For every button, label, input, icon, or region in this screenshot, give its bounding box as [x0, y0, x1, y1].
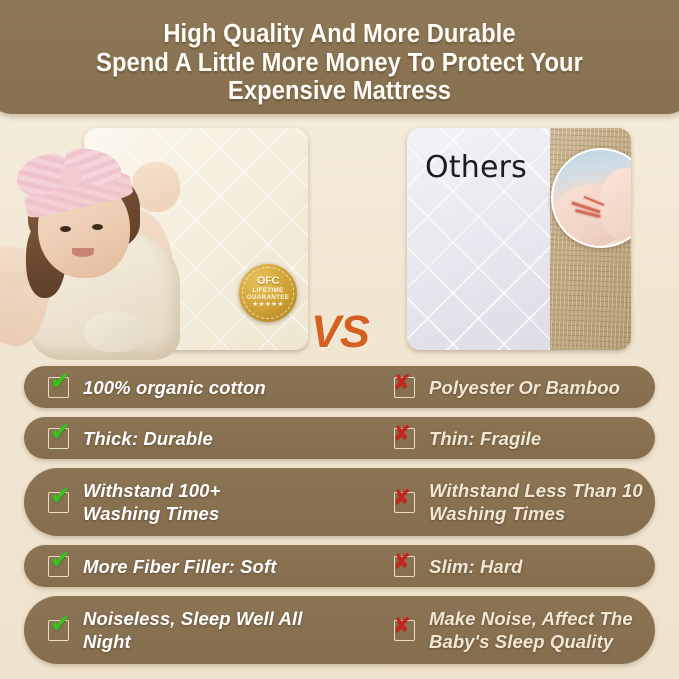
- row-good-text: 100% organic cotton: [83, 377, 266, 398]
- row-bad-text: Polyester Or Bamboo: [429, 377, 620, 398]
- table-row: ✔ Noiseless, Sleep Well All Night ✘ Make…: [24, 596, 655, 664]
- cross-icon: ✘: [394, 428, 415, 449]
- row-good-text: Withstand 100+ Washing Times: [83, 479, 220, 525]
- row-good-text: Noiseless, Sleep Well All Night: [83, 607, 302, 653]
- feature-comparison-list: ✔ 100% organic cotton ✘ Polyester Or Bam…: [0, 366, 679, 673]
- row-bad-text: Withstand Less Than 10 Washing Times: [429, 479, 643, 525]
- table-row: ✔ Thick: Durable ✘ Thin: Fragile: [24, 417, 655, 459]
- table-row: ✔ 100% organic cotton ✘ Polyester Or Bam…: [24, 366, 655, 408]
- comparison-stage: OFC LIFETIME GUARANTEE ★★★★★ VS Others: [0, 120, 679, 365]
- row-bad-cell: ✘ Thin: Fragile: [372, 417, 655, 459]
- others-label: Others: [425, 150, 527, 185]
- row-bad-text: Slim: Hard: [429, 556, 523, 577]
- lifetime-guarantee-badge: OFC LIFETIME GUARANTEE ★★★★★: [239, 264, 297, 322]
- row-good-cell: ✔ Thick: Durable: [24, 417, 372, 459]
- check-icon: ✔: [48, 377, 69, 398]
- check-icon: ✔: [48, 556, 69, 577]
- row-good-cell: ✔ Noiseless, Sleep Well All Night: [24, 596, 372, 664]
- row-bad-cell: ✘ Slim: Hard: [372, 545, 655, 587]
- dress-bow: [84, 312, 146, 352]
- row-bad-cell: ✘ Polyester Or Bamboo: [372, 366, 655, 408]
- cross-icon: ✘: [394, 377, 415, 398]
- table-row: ✔ More Fiber Filler: Soft ✘ Slim: Hard: [24, 545, 655, 587]
- row-good-cell: ✔ 100% organic cotton: [24, 366, 372, 408]
- headband-bow-knot: [60, 166, 82, 188]
- row-bad-cell: ✘ Make Noise, Affect The Baby's Sleep Qu…: [372, 596, 655, 664]
- eye-right-icon: [92, 224, 103, 230]
- cross-icon: ✘: [394, 620, 415, 641]
- header-line-3: Expensive Mattress: [11, 77, 669, 106]
- infographic-page: High Quality And More Durable Spend A Li…: [0, 0, 679, 679]
- row-good-text: Thick: Durable: [83, 428, 213, 449]
- row-good-cell: ✔ Withstand 100+ Washing Times: [24, 468, 372, 536]
- row-good-cell: ✔ More Fiber Filler: Soft: [24, 545, 372, 587]
- eye-left-icon: [60, 226, 71, 232]
- mouth-icon: [72, 248, 94, 257]
- check-icon: ✔: [48, 620, 69, 641]
- cross-icon: ✘: [394, 492, 415, 513]
- check-icon: ✔: [48, 492, 69, 513]
- row-bad-cell: ✘ Withstand Less Than 10 Washing Times: [372, 468, 655, 536]
- header-line-2: Spend A Little More Money To Protect You…: [11, 49, 669, 78]
- header-line-1: High Quality And More Durable: [11, 20, 669, 49]
- others-product-card: Others: [407, 128, 631, 350]
- check-icon: ✔: [48, 428, 69, 449]
- header-banner: High Quality And More Durable Spend A Li…: [0, 0, 679, 114]
- row-good-text: More Fiber Filler: Soft: [83, 556, 276, 577]
- header-text-block: High Quality And More Durable Spend A Li…: [11, 20, 669, 106]
- row-bad-text: Make Noise, Affect The Baby's Sleep Qual…: [429, 607, 633, 653]
- row-bad-text: Thin: Fragile: [429, 428, 541, 449]
- toddler-photo: [0, 134, 210, 356]
- vs-label: VS: [304, 306, 376, 358]
- table-row: ✔ Withstand 100+ Washing Times ✘ Withsta…: [24, 468, 655, 536]
- badge-ring: [242, 267, 294, 319]
- cross-icon: ✘: [394, 556, 415, 577]
